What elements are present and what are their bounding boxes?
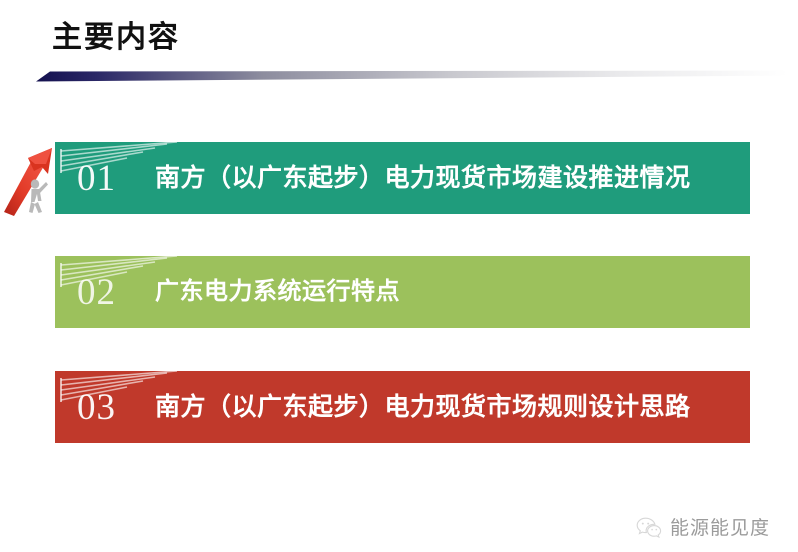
title-underline-rule <box>36 70 788 83</box>
title-rule-graphic <box>36 70 788 83</box>
content-item-03[interactable]: 03 南方（以广东起步）电力现货市场规则设计思路 <box>55 371 750 443</box>
content-item-02-number: 02 <box>77 274 155 311</box>
arrow-graphic <box>2 140 56 218</box>
content-item-02-label: 广东电力系统运行特点 <box>155 278 400 307</box>
watermark-text: 能源能见度 <box>670 519 770 538</box>
content-item-02[interactable]: 02 广东电力系统运行特点 <box>55 256 750 328</box>
content-item-01-inner: 01 南方（以广东起步）电力现货市场建设推进情况 <box>55 142 750 214</box>
watermark: 能源能见度 <box>636 516 770 540</box>
content-item-03-inner: 03 南方（以广东起步）电力现货市场规则设计思路 <box>55 371 750 443</box>
red-up-arrow-with-figure-icon <box>2 140 56 218</box>
content-item-03-number: 03 <box>77 389 155 426</box>
content-item-01-number: 01 <box>77 160 155 197</box>
wechat-glyph <box>636 516 662 540</box>
slide-canvas: 主要内容 <box>0 0 798 552</box>
content-item-01-label: 南方（以广东起步）电力现货市场建设推进情况 <box>155 163 691 193</box>
content-item-03-label: 南方（以广东起步）电力现货市场规则设计思路 <box>155 392 691 422</box>
content-item-02-inner: 02 广东电力系统运行特点 <box>55 256 750 328</box>
wechat-logo-icon <box>636 516 662 540</box>
content-item-01[interactable]: 01 南方（以广东起步）电力现货市场建设推进情况 <box>55 142 750 214</box>
page-title: 主要内容 <box>52 20 180 56</box>
